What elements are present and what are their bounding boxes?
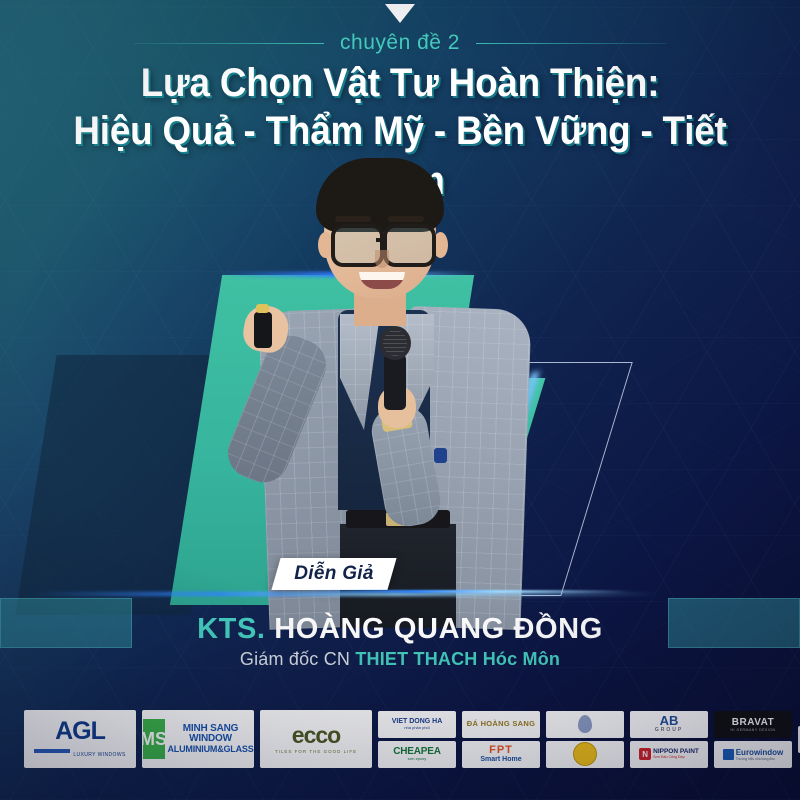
lapel-pin [434,448,447,463]
bravat-sub: HI GERMANY DESIGN [731,728,776,732]
eyeglasses-right-lens [383,224,436,267]
sponsor-logo-nippon-paint[interactable]: N NIPPON PAINT Sơn Đâu Cũng Đẹp [630,741,708,768]
da-hoang-sang-name: ĐÁ HOÀNG SANG [467,720,536,728]
sponsor-logo-cheapea[interactable]: CHEAPEA sơn epoxy [378,741,456,768]
sponsor-logo-minh-sang-window[interactable]: MS MINH SANG WINDOW ALUMINIUM&GLASS [142,710,254,768]
minh-sang-line-1: MINH SANG WINDOW [168,724,254,745]
clicker-tip [256,304,269,313]
sponsor-column-5: BRAVAT HI GERMANY DESIGN Eurowindow Thươ… [714,711,792,768]
sponsor-logo-strip: AGL LUXURY WINDOWS MS MINH SANG WINDOW A… [0,706,800,772]
sponsor-column-4: AB GROUP N NIPPON PAINT Sơn Đâu Cũng Đẹp [630,711,708,768]
nippon-mark-icon: N [639,748,651,760]
headline-line-1: Lựa Chọn Vật Tư Hoàn Thiện: [32,60,768,106]
sponsor-logo-da-hoang-sang[interactable]: ĐÁ HOÀNG SANG [462,711,540,738]
minh-sang-mark-letters: MS [142,729,167,750]
fpt-wordmark: FPT [480,744,521,756]
speaker-name: HOÀNG QUANG ĐỒNG [274,613,603,645]
sponsor-column-1: VIET DONG HA nhà phân phối CHEAPEA sơn e… [378,711,456,768]
eyebrow-right [388,216,424,222]
speaker-role-branch: Hóc Môn [483,649,560,669]
speaker-badge: Diễn Giả [271,558,396,590]
yellow-circle-icon [573,742,597,766]
viet-dong-ha-sub: nhà phân phối [392,726,443,730]
bravat-wordmark: BRAVAT [732,717,774,728]
eurowindow-mark-icon [723,749,734,760]
sponsor-logo-agl[interactable]: AGL LUXURY WINDOWS [24,710,136,768]
speaker-role-organization: THIET THACH [355,649,477,669]
sponsor-logo-eurowindow[interactable]: Eurowindow Thương hiệu cửa hàng đầu [714,741,792,768]
water-droplet-icon [578,715,592,733]
sponsor-logo-water-filter[interactable] [546,711,624,738]
sponsor-logo-bravat[interactable]: BRAVAT HI GERMANY DESIGN [714,711,792,738]
minh-sang-mark-icon: MS [143,719,165,759]
nose [375,250,389,268]
eco-tagline: TILES FOR THE GOOD LIFE [275,750,357,755]
sponsor-logo-fpt-smart-home[interactable]: FPT Smart Home [462,741,540,768]
nippon-sub: Sơn Đâu Cũng Đẹp [653,755,699,759]
eyebrow-rule-left [134,43,324,44]
microphone-head [379,326,411,360]
eyebrow-row: chuyên đề 2 [0,31,800,55]
minh-sang-line-2: ALUMINIUM&GLASS [168,745,254,754]
ab-group-wordmark: AB [655,714,683,728]
sponsor-logo-yellow-badge[interactable] [546,741,624,768]
eyebrow-left [335,216,371,222]
microphone-body [384,354,406,410]
down-triangle-icon [385,4,415,23]
sponsor-column-3 [546,711,624,768]
agl-bar-icon [34,749,70,753]
eyebrow-label: chuyên đề 2 [340,31,460,55]
speaker-badge-label: Diễn Giả [276,558,392,590]
speaker-title-prefix: KTS. [197,613,265,645]
ab-group-sub: GROUP [655,728,683,734]
sponsor-column-2: ĐÁ HOÀNG SANG FPT Smart Home [462,711,540,768]
eurowindow-sub: Thương hiệu cửa hàng đầu [736,757,784,761]
fpt-sub: Smart Home [480,756,521,764]
speaker-role-prefix: Giám đốc CN [240,649,350,669]
eyebrow-rule-right [476,43,666,44]
eco-wordmark: ecco [275,724,357,747]
cheapea-sub: sơn epoxy [393,757,441,761]
speaker-name-line: KTS. HOÀNG QUANG ĐỒNG [0,612,800,646]
badge-underline-glow [300,590,630,593]
sponsor-logo-ab-group[interactable]: AB GROUP [630,711,708,738]
promotional-poster: chuyên đề 2 Lựa Chọn Vật Tư Hoàn Thiện: … [0,0,800,800]
sponsor-logo-viet-dong-ha[interactable]: VIET DONG HA nhà phân phối [378,711,456,738]
sponsor-logo-eco[interactable]: ecco TILES FOR THE GOOD LIFE [260,710,372,768]
speaker-info: KTS. HOÀNG QUANG ĐỒNG Giám đốc CN THIET … [0,612,800,672]
agl-tagline: LUXURY WINDOWS [73,752,125,758]
agl-wordmark: AGL [34,719,125,744]
presentation-clicker [254,312,272,348]
eurowindow-name: Eurowindow [736,748,784,757]
speaker-role-line: Giám đốc CN THIET THACH Hóc Môn [0,646,800,672]
eyeglasses-bridge [376,238,385,242]
speaker-stage [0,150,800,620]
nippon-name: NIPPON PAINT [653,749,699,756]
